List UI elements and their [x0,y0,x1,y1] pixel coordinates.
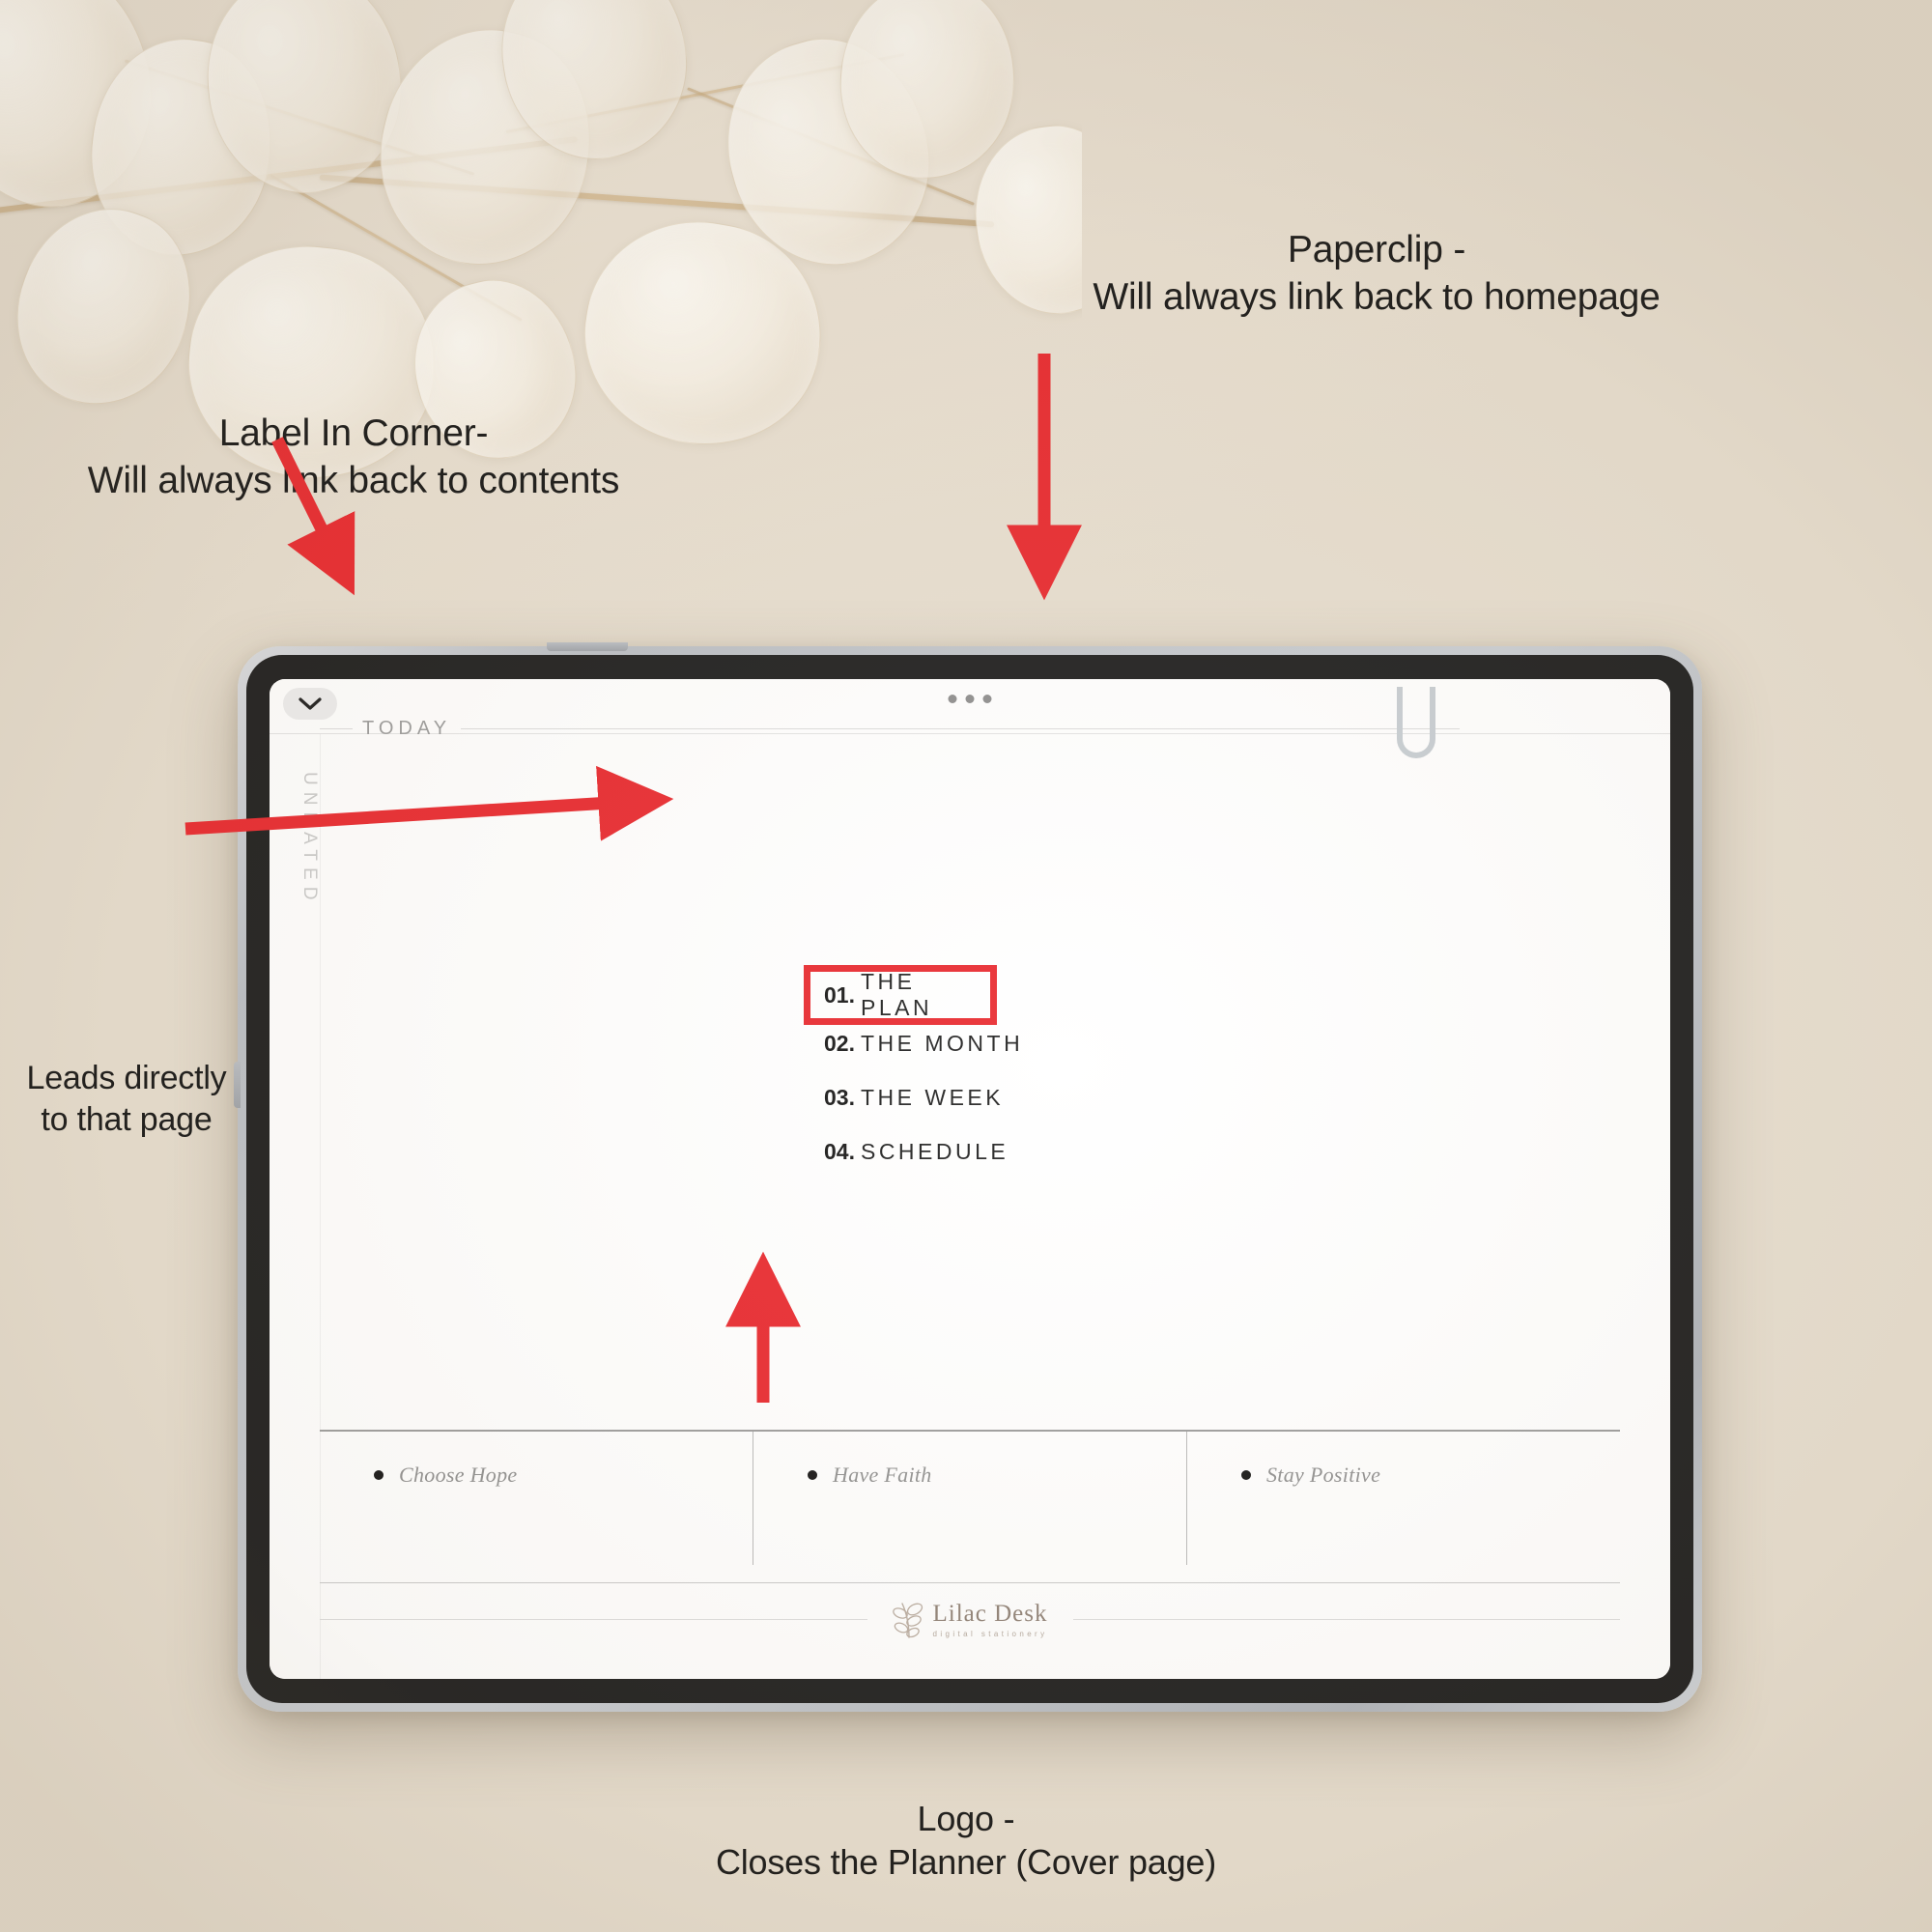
tab-undated-label: UNDATED [298,772,320,906]
brand-logo-wordmark: Lilac Desk digital stationery [933,1602,1048,1638]
affirmations-row: Choose Hope Have Faith Stay Positive [320,1430,1620,1565]
contents-item-number: 01. [824,982,855,1009]
more-options-button[interactable] [949,695,992,703]
affirmation-have-faith[interactable]: Have Faith [753,1432,1186,1565]
contents-list: 01. THE PLAN 02. THE MONTH 03. THE WEEK [810,965,1129,1193]
contents-item-number: 02. [824,1031,855,1057]
affirmation-stay-positive[interactable]: Stay Positive [1186,1432,1620,1565]
tab-rule-right [461,728,1460,729]
tablet-bezel: TODAY UNDATED [246,655,1693,1703]
contents-item-number: 03. [824,1085,855,1111]
planner-footer: Lilac Desk digital stationery [320,1582,1620,1656]
footer-rule-left [320,1619,867,1620]
affirmation-text: Choose Hope [399,1463,517,1488]
chevron-down-icon [298,697,322,711]
leaf-sprig-icon [893,1601,925,1639]
tablet-screen: TODAY UNDATED [270,679,1670,1679]
annotation-label-in-corner: Label In Corner- Will always link back t… [15,410,692,504]
back-button[interactable] [283,688,337,720]
contents-item-label: THE WEEK [861,1085,1004,1111]
contents-item-label: THE PLAN [861,969,990,1021]
dot [983,695,992,703]
tab-today[interactable]: TODAY [320,718,1460,740]
tab-rule-left [320,728,353,729]
affirmation-choose-hope[interactable]: Choose Hope [320,1432,753,1565]
bullet-icon [808,1470,817,1480]
annotation-logo: Logo - Closes the Planner (Cover page) [599,1797,1333,1885]
contents-item-the-week[interactable]: 03. THE WEEK [810,1085,1129,1139]
tab-undated[interactable]: UNDATED [291,772,324,984]
contents-item-label: SCHEDULE [861,1139,1009,1165]
dot [966,695,975,703]
annotation-leads-to-page: Leads directly to that page [6,1058,247,1141]
brand-name: Lilac Desk [933,1602,1048,1626]
brand-logo[interactable]: Lilac Desk digital stationery [867,1601,1073,1639]
brand-tagline: digital stationery [933,1630,1048,1638]
dot [949,695,957,703]
footer-rule-right [1073,1619,1621,1620]
affirmation-text: Have Faith [833,1463,932,1488]
affirmation-text: Stay Positive [1266,1463,1380,1488]
contents-item-label: THE MONTH [861,1031,1023,1057]
paperclip-icon[interactable] [1397,687,1435,758]
tablet-device: TODAY UNDATED [238,646,1702,1712]
tablet-camera-nub [547,642,628,651]
planner-page: TODAY UNDATED [270,679,1670,1679]
contents-item-schedule[interactable]: 04. SCHEDULE [810,1139,1129,1193]
contents-item-the-month[interactable]: 02. THE MONTH [810,1031,1129,1085]
tab-today-label: TODAY [362,718,451,740]
annotation-paperclip: Paperclip - Will always link back to hom… [850,226,1903,321]
photo-background: TODAY UNDATED [0,0,1932,1932]
bullet-icon [374,1470,384,1480]
bullet-icon [1241,1470,1251,1480]
contents-item-number: 04. [824,1139,855,1165]
contents-item-the-plan[interactable]: 01. THE PLAN [804,965,997,1025]
